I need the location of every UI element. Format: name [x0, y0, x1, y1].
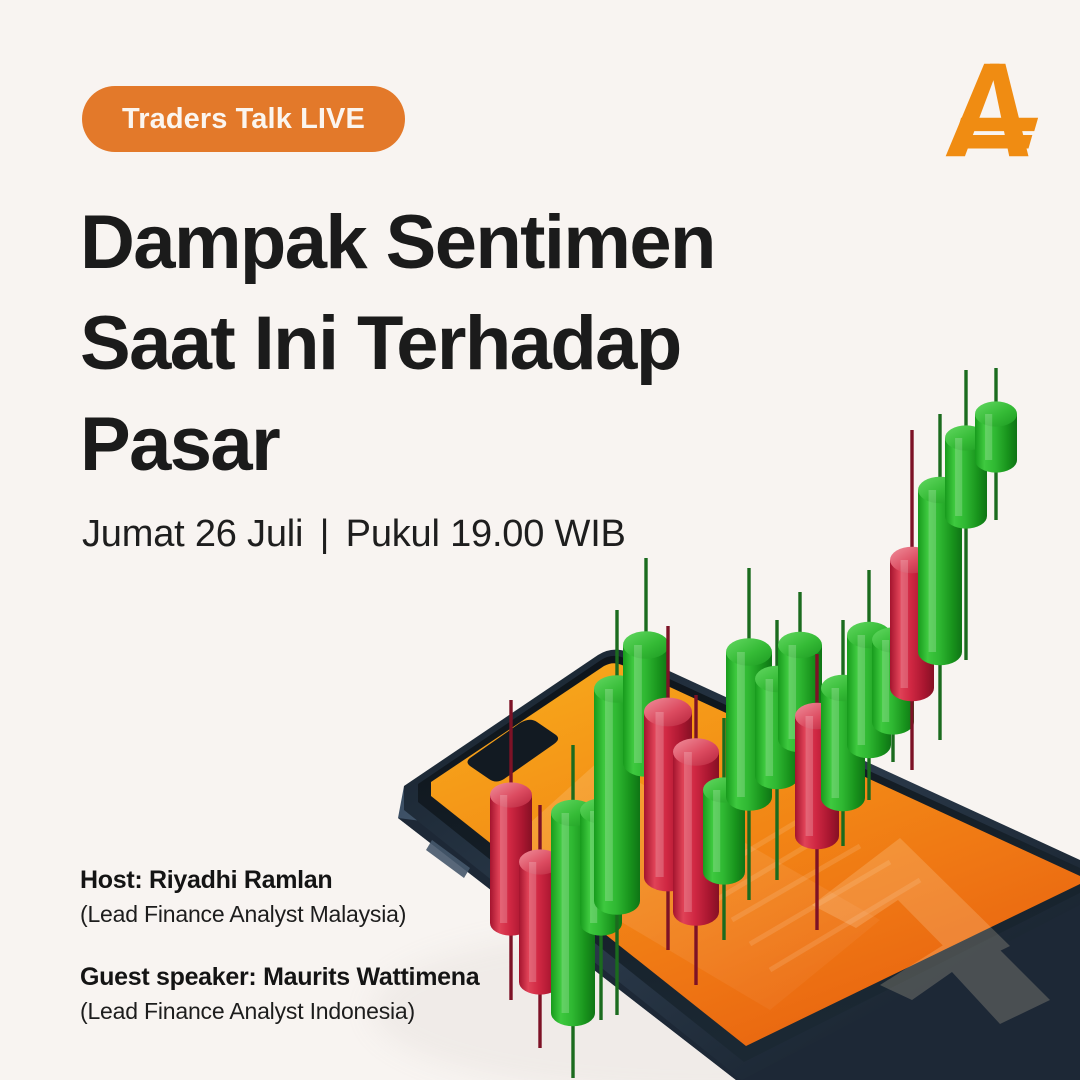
- schedule-line: Jumat 26 Juli | Pukul 19.00 WIB: [82, 513, 626, 556]
- live-session-badge-label: Traders Talk LIVE: [122, 103, 365, 136]
- page-title-line-3: Pasar: [80, 394, 820, 495]
- guest-speaker-name: Guest speaker: Maurits Wattimena: [80, 963, 479, 992]
- page-title-line-1: Dampak Sentimen: [80, 192, 820, 293]
- page-title-line-2: Saat Ini Terhadap: [80, 293, 820, 394]
- host-role: (Lead Finance Analyst Malaysia): [80, 901, 479, 928]
- schedule-separator: |: [314, 513, 336, 556]
- guest-speaker-credit: Guest speaker: Maurits Wattimena (Lead F…: [80, 963, 479, 1025]
- page-title: Dampak Sentimen Saat Ini Terhadap Pasar: [80, 192, 820, 495]
- speaker-credits: Host: Riyadhi Ramlan (Lead Finance Analy…: [80, 866, 479, 1025]
- schedule-time: Pukul 19.00 WIB: [346, 513, 626, 555]
- guest-speaker-role: (Lead Finance Analyst Indonesia): [80, 998, 479, 1025]
- ascendex-a-logo-icon: [936, 58, 1042, 162]
- host-name: Host: Riyadhi Ramlan: [80, 866, 479, 895]
- schedule-date: Jumat 26 Juli: [82, 513, 303, 555]
- host-credit: Host: Riyadhi Ramlan (Lead Finance Analy…: [80, 866, 479, 928]
- poster-canvas: Traders Talk LIVE Dampak Sentimen Saat I…: [0, 0, 1080, 1080]
- live-session-badge[interactable]: Traders Talk LIVE: [82, 86, 405, 152]
